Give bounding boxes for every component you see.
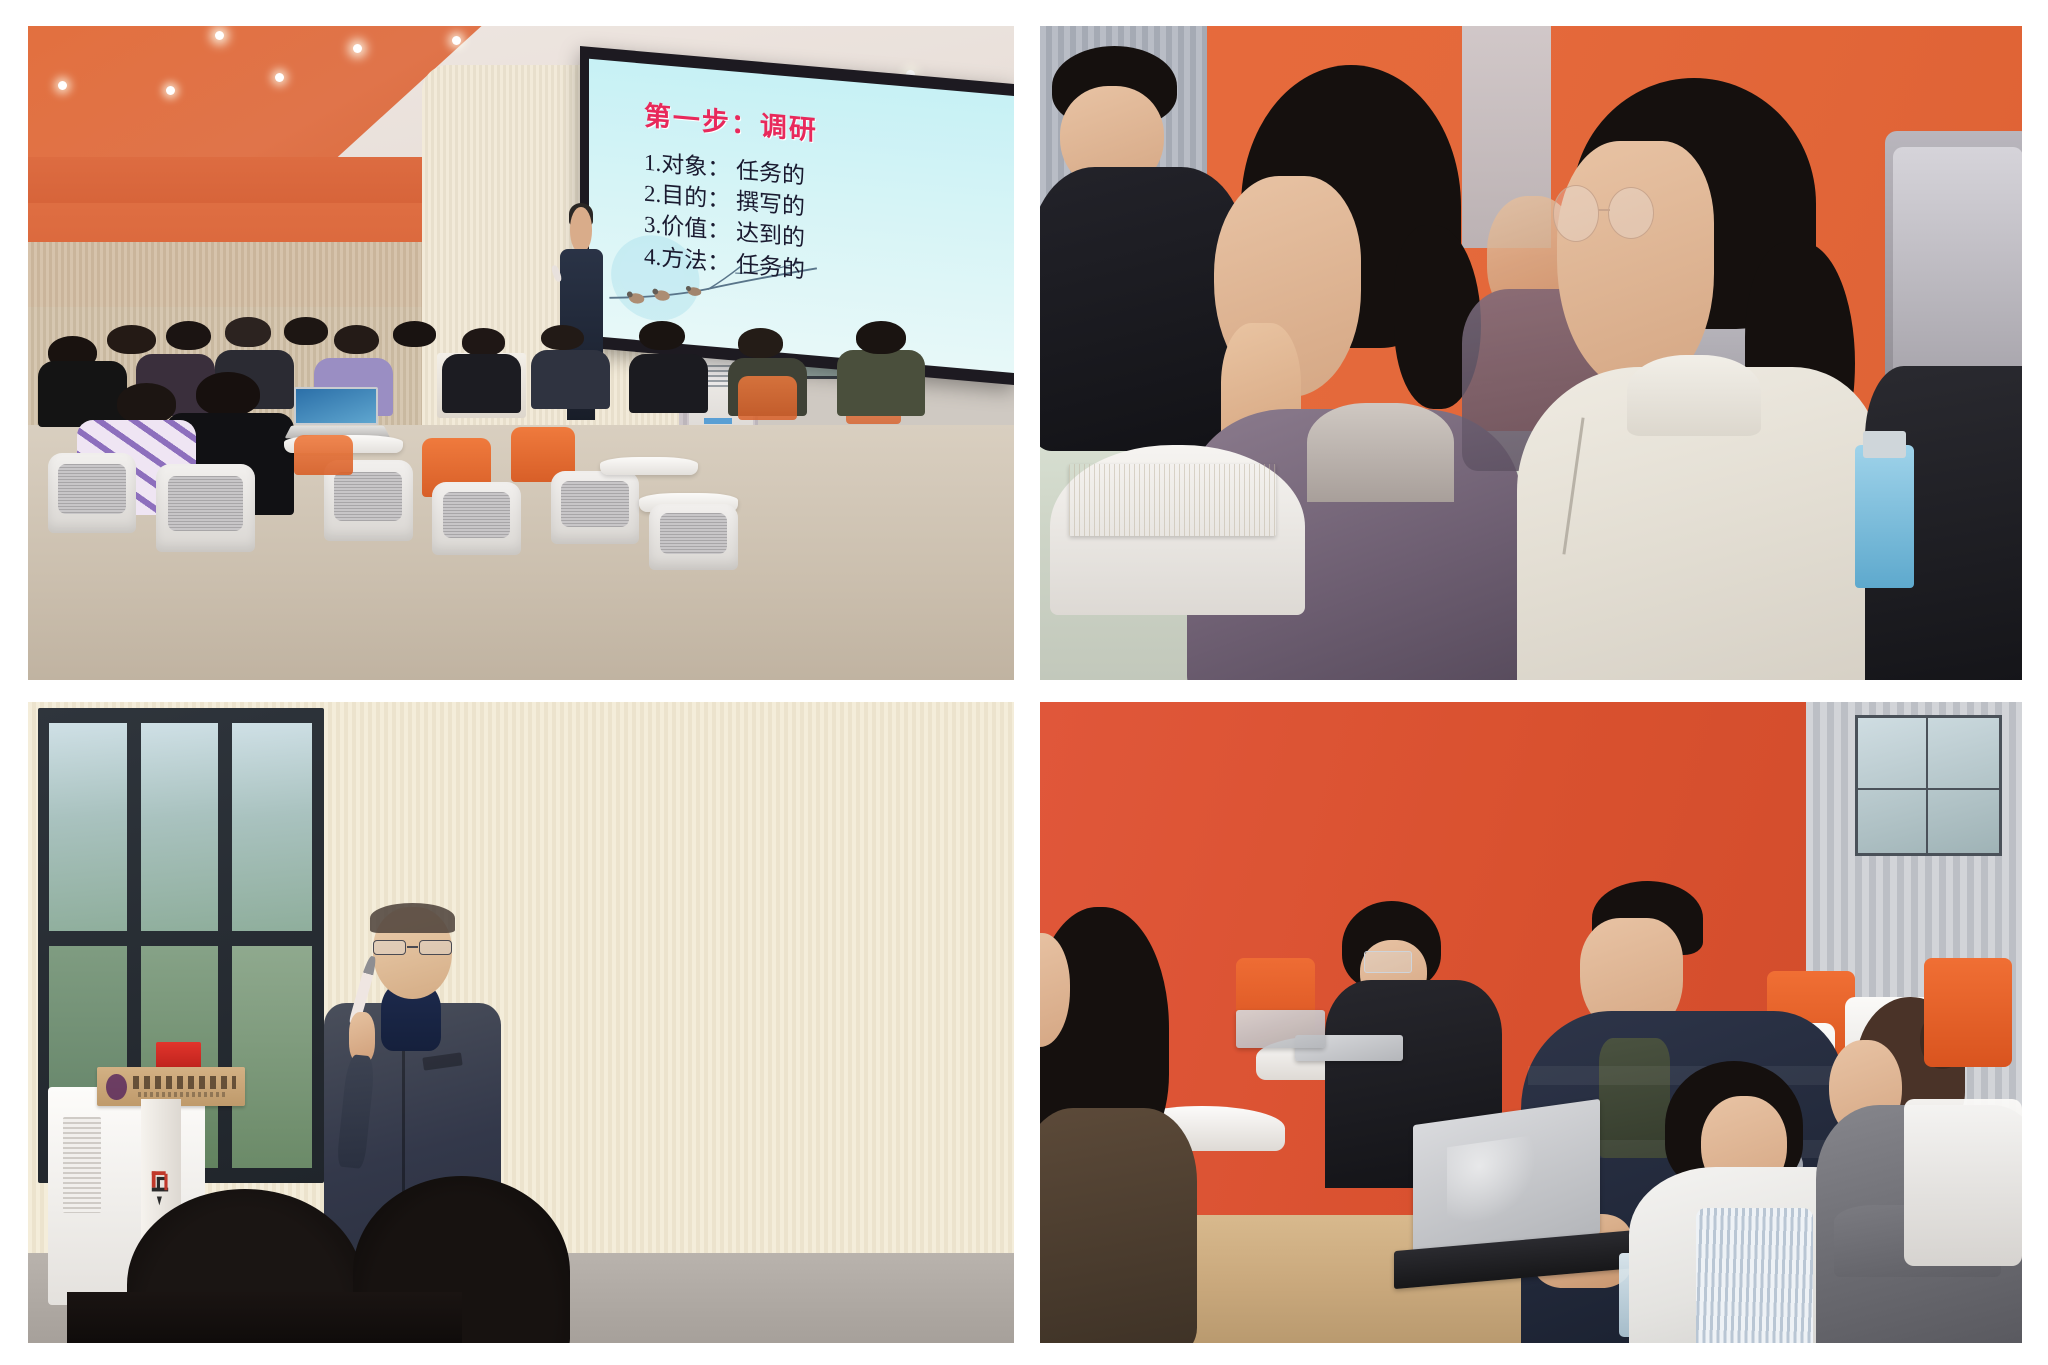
water-bottle — [1855, 445, 1914, 589]
bottle-cap — [1863, 431, 1906, 457]
foreground-shoulders — [67, 1292, 461, 1343]
student-laptop — [294, 387, 378, 438]
panel-students-in-classroom — [1040, 702, 2022, 1343]
striped-shirt — [1696, 1208, 1813, 1343]
lectern-vent — [63, 1117, 101, 1213]
plaque-text — [133, 1076, 237, 1089]
school-emblem — [106, 1074, 127, 1100]
open-notebook — [1069, 464, 1275, 536]
laptop-background — [1236, 1010, 1324, 1048]
lectern-logo-icon — [148, 1161, 173, 1214]
presenter-head — [570, 207, 593, 253]
chair-orange-3 — [1924, 958, 2012, 1067]
panel-two-attendees-closeup — [1040, 26, 2022, 680]
glasses-icon — [1553, 185, 1659, 242]
speaker-hair — [370, 903, 455, 934]
chair-white-3 — [1904, 1099, 2022, 1266]
speaker-glasses-icon — [373, 940, 451, 955]
audience-group — [28, 314, 1014, 680]
panel-lecture-hall-wide-shot: 第一步：调研 1.对象： 任务的 2.目的： 撰写的 3.价值： 达到的 4.方… — [28, 26, 1014, 680]
photo-collage: 第一步：调研 1.对象： 任务的 2.目的： 撰写的 3.价值： 达到的 4.方… — [0, 0, 2048, 1365]
jacket-collar — [1307, 403, 1454, 501]
window — [1855, 715, 2002, 856]
student-woman-long-hair — [1040, 907, 1197, 1343]
glasses-icon — [1364, 951, 1412, 973]
sweater-collar — [1627, 355, 1761, 437]
slide-body: 1.对象： 任务的 2.目的： 撰写的 3.价值： 达到的 4.方法： 任务的 — [644, 147, 1014, 304]
panel-speaker-with-microphone — [28, 702, 1014, 1343]
plaque-subtext — [138, 1092, 227, 1097]
